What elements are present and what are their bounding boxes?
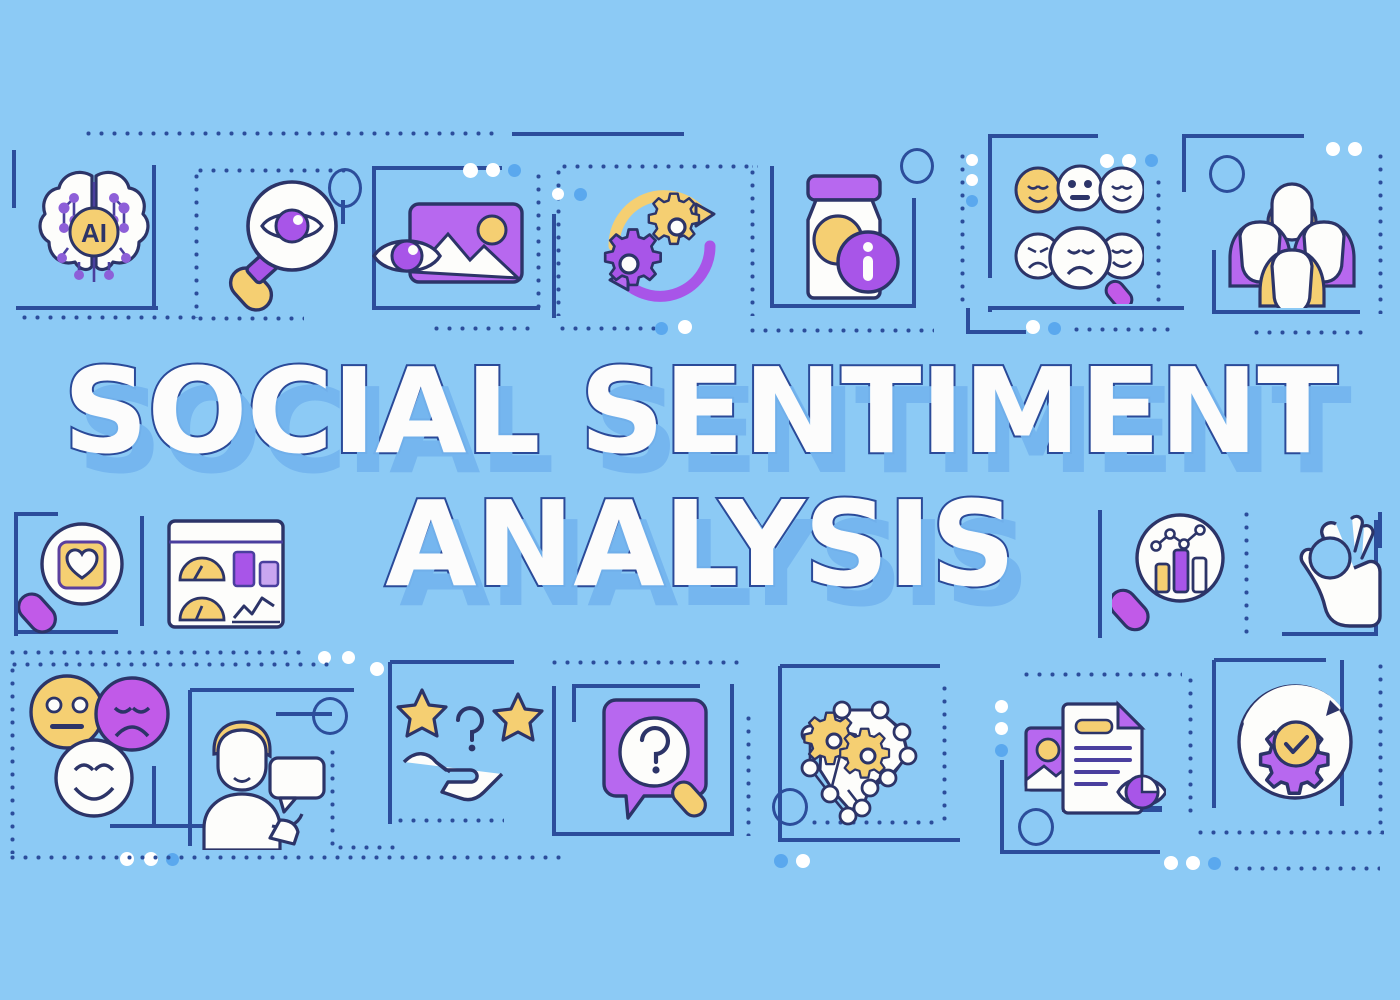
deco-line bbox=[552, 686, 556, 836]
deco-dots bbox=[10, 664, 15, 854]
deco-bubble bbox=[508, 164, 521, 177]
deco-dots bbox=[960, 150, 965, 302]
deco-bubble bbox=[995, 744, 1008, 757]
deco-bubble bbox=[995, 722, 1008, 735]
sentiment-faces-icon bbox=[22, 672, 172, 822]
deco-dots bbox=[430, 326, 538, 331]
deco-dots bbox=[394, 818, 504, 823]
deco-line bbox=[372, 166, 502, 170]
magnifier-eye-icon bbox=[218, 170, 348, 320]
emoji-grid-magnifier-icon bbox=[1014, 164, 1144, 304]
deco-line bbox=[1212, 310, 1360, 314]
deco-line bbox=[572, 684, 700, 688]
deco-bubble bbox=[574, 188, 587, 201]
deco-line bbox=[730, 684, 734, 832]
deco-line bbox=[988, 136, 992, 278]
deco-dots bbox=[82, 131, 502, 136]
person-speech-bubble-icon bbox=[196, 714, 328, 850]
deco-dots bbox=[536, 170, 541, 314]
deco-line bbox=[390, 660, 514, 664]
deco-line bbox=[388, 662, 392, 824]
deco-bubble bbox=[1026, 320, 1040, 334]
deco-line bbox=[1182, 134, 1186, 192]
deco-dots bbox=[1230, 866, 1380, 871]
deco-line bbox=[552, 214, 556, 318]
deco-bubble bbox=[1048, 322, 1061, 335]
deco-line bbox=[552, 832, 734, 836]
deco-line bbox=[988, 134, 1098, 138]
report-document-pie-icon bbox=[1022, 694, 1166, 822]
image-eye-icon bbox=[368, 190, 528, 310]
deco-dots bbox=[8, 662, 332, 667]
deco-bubble bbox=[1164, 856, 1178, 870]
ai-brain-icon: AI bbox=[34, 162, 154, 302]
deco-dots bbox=[6, 855, 566, 860]
deco-bubble bbox=[995, 700, 1008, 713]
deco-dots bbox=[556, 326, 664, 331]
deco-line bbox=[572, 684, 576, 722]
deco-dots bbox=[1070, 327, 1170, 332]
deco-bubble bbox=[552, 188, 564, 200]
deco-line bbox=[190, 688, 354, 692]
speech-bubble-question-magnifier-icon bbox=[592, 694, 718, 828]
deco-line bbox=[778, 838, 960, 842]
gears-cycle-icon bbox=[592, 182, 732, 312]
deco-bubble bbox=[966, 195, 978, 207]
deco-line bbox=[912, 198, 916, 306]
deco-line bbox=[1214, 658, 1326, 662]
deco-dots bbox=[746, 328, 934, 333]
deco-dots bbox=[1194, 830, 1384, 835]
banner-title: SOCIAL SENTIMENT bbox=[0, 355, 1400, 467]
deco-dots bbox=[1378, 660, 1383, 834]
deco-dots bbox=[18, 315, 200, 320]
deco-bubble bbox=[1348, 142, 1362, 156]
deco-line bbox=[512, 132, 684, 136]
deco-dots bbox=[1156, 176, 1161, 302]
deco-line bbox=[12, 150, 16, 208]
deco-bubble bbox=[678, 320, 692, 334]
deco-bubble bbox=[1326, 142, 1340, 156]
deco-dots bbox=[942, 682, 947, 822]
deco-bubble bbox=[342, 651, 355, 664]
deco-line bbox=[1212, 660, 1216, 808]
deco-line bbox=[1000, 760, 1004, 852]
neural-brain-gears-icon bbox=[796, 686, 940, 826]
deco-line bbox=[1000, 850, 1160, 854]
deco-bubble bbox=[966, 154, 978, 166]
deco-line bbox=[780, 664, 940, 668]
deco-bubble bbox=[463, 163, 478, 178]
page-title-line-2: ANALYSIS bbox=[0, 488, 1400, 600]
deco-line bbox=[1212, 250, 1216, 314]
banner-canvas: AI bbox=[0, 0, 1400, 1000]
deco-dots bbox=[1378, 150, 1383, 314]
deco-bubble bbox=[486, 163, 500, 177]
deco-bubble bbox=[370, 662, 384, 676]
deco-dots bbox=[194, 170, 199, 318]
svg-text:AI: AI bbox=[81, 218, 107, 248]
deco-dots bbox=[750, 166, 755, 316]
page-title-line-1: SOCIAL SENTIMENT bbox=[0, 355, 1400, 467]
deco-line bbox=[188, 690, 192, 846]
deco-bubble bbox=[966, 174, 978, 186]
deco-line bbox=[966, 330, 1026, 334]
deco-dots bbox=[1250, 330, 1370, 335]
data-jar-info-icon bbox=[786, 168, 906, 306]
deco-bubble bbox=[796, 854, 810, 868]
deco-dots bbox=[1020, 672, 1182, 677]
deco-bubble bbox=[774, 854, 788, 868]
deco-bubble bbox=[1145, 154, 1158, 167]
deco-line bbox=[1186, 134, 1304, 138]
gear-check-cycle-icon bbox=[1232, 678, 1358, 806]
deco-dots bbox=[6, 650, 306, 655]
deco-dots bbox=[548, 660, 740, 665]
deco-bubble bbox=[655, 322, 668, 335]
audience-group-icon bbox=[1222, 160, 1362, 308]
deco-dots bbox=[1188, 674, 1193, 820]
deco-line bbox=[770, 166, 774, 308]
deco-bubble bbox=[1186, 856, 1200, 870]
deco-dots bbox=[558, 164, 758, 169]
deco-dots bbox=[746, 712, 751, 836]
hand-stars-rating-icon bbox=[396, 684, 546, 814]
deco-line bbox=[16, 306, 158, 310]
deco-line bbox=[988, 306, 1184, 310]
deco-dots bbox=[330, 746, 335, 846]
deco-dots bbox=[334, 845, 400, 850]
banner-subtitle: ANALYSIS bbox=[0, 488, 1400, 600]
deco-bubble bbox=[1208, 857, 1221, 870]
